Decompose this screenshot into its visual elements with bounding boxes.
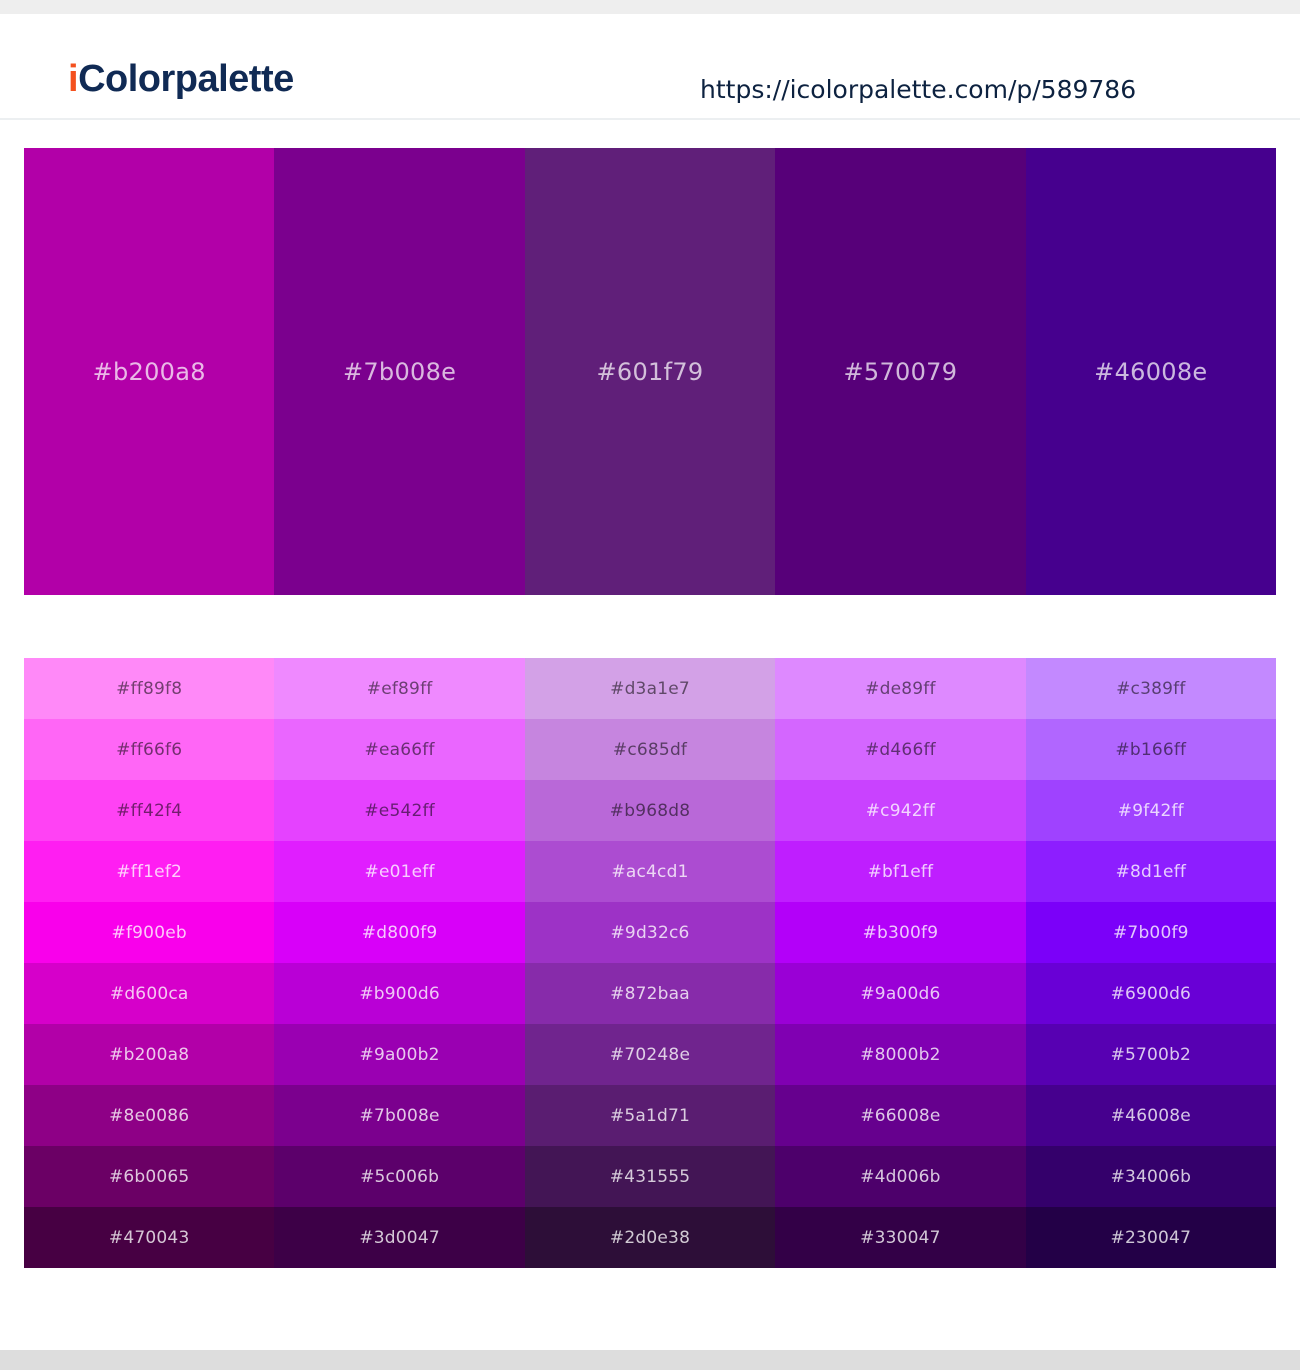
shade-cell[interactable]: #5c006b — [274, 1146, 524, 1207]
shade-row: #b200a8#9a00b2#70248e#8000b2#5700b2 — [24, 1024, 1276, 1085]
shade-row: #8e0086#7b008e#5a1d71#66008e#46008e — [24, 1085, 1276, 1146]
shade-cell[interactable]: #c685df — [525, 719, 775, 780]
shade-row: #ff1ef2#e01eff#ac4cd1#bf1eff#8d1eff — [24, 841, 1276, 902]
site-logo[interactable]: iColorpalette — [68, 60, 294, 98]
palette-swatch-hex: #570079 — [775, 358, 1025, 386]
shade-cell[interactable]: #ea66ff — [274, 719, 524, 780]
shade-cell[interactable]: #ff1ef2 — [24, 841, 274, 902]
shade-hex-label: #46008e — [1026, 1106, 1276, 1126]
shade-hex-label: #d600ca — [24, 984, 274, 1004]
shade-cell[interactable]: #ac4cd1 — [525, 841, 775, 902]
shade-hex-label: #e01eff — [274, 862, 524, 882]
shade-cell[interactable]: #5700b2 — [1026, 1024, 1276, 1085]
shade-hex-label: #9a00b2 — [274, 1045, 524, 1065]
shade-hex-label: #5c006b — [274, 1167, 524, 1187]
shade-cell[interactable]: #2d0e38 — [525, 1207, 775, 1268]
shade-cell[interactable]: #e01eff — [274, 841, 524, 902]
shade-cell[interactable]: #9f42ff — [1026, 780, 1276, 841]
shade-cell[interactable]: #9d32c6 — [525, 902, 775, 963]
shade-hex-label: #d3a1e7 — [525, 679, 775, 699]
shade-row: #470043#3d0047#2d0e38#330047#230047 — [24, 1207, 1276, 1268]
shade-cell[interactable]: #b900d6 — [274, 963, 524, 1024]
shade-cell[interactable]: #d466ff — [775, 719, 1025, 780]
shade-cell[interactable]: #d3a1e7 — [525, 658, 775, 719]
shade-hex-label: #34006b — [1026, 1167, 1276, 1187]
shade-row: #6b0065#5c006b#431555#4d006b#34006b — [24, 1146, 1276, 1207]
shade-hex-label: #8000b2 — [775, 1045, 1025, 1065]
main-palette-strip: #b200a8#7b008e#601f79#570079#46008e — [24, 148, 1276, 595]
shade-hex-label: #b968d8 — [525, 801, 775, 821]
shade-cell[interactable]: #6900d6 — [1026, 963, 1276, 1024]
shade-hex-label: #7b00f9 — [1026, 923, 1276, 943]
shade-cell[interactable]: #b200a8 — [24, 1024, 274, 1085]
shade-cell[interactable]: #9a00d6 — [775, 963, 1025, 1024]
logo-initial: i — [68, 58, 78, 100]
shade-cell[interactable]: #b968d8 — [525, 780, 775, 841]
shade-hex-label: #6900d6 — [1026, 984, 1276, 1004]
shade-hex-label: #330047 — [775, 1228, 1025, 1248]
shade-cell[interactable]: #7b00f9 — [1026, 902, 1276, 963]
shade-row: #ff66f6#ea66ff#c685df#d466ff#b166ff — [24, 719, 1276, 780]
shade-hex-label: #d466ff — [775, 740, 1025, 760]
shade-hex-label: #c389ff — [1026, 679, 1276, 699]
shade-hex-label: #7b008e — [274, 1106, 524, 1126]
palette-swatch-hex: #601f79 — [525, 358, 775, 386]
palette-swatch[interactable]: #570079 — [775, 148, 1025, 595]
palette-swatch-hex: #7b008e — [274, 358, 524, 386]
shade-hex-label: #9a00d6 — [775, 984, 1025, 1004]
shade-cell[interactable]: #4d006b — [775, 1146, 1025, 1207]
palette-swatch-hex: #b200a8 — [24, 358, 274, 386]
shade-cell[interactable]: #230047 — [1026, 1207, 1276, 1268]
shade-hex-label: #ac4cd1 — [525, 862, 775, 882]
shade-hex-label: #e542ff — [274, 801, 524, 821]
shade-row: #d600ca#b900d6#872baa#9a00d6#6900d6 — [24, 963, 1276, 1024]
shade-cell[interactable]: #9a00b2 — [274, 1024, 524, 1085]
shade-cell[interactable]: #de89ff — [775, 658, 1025, 719]
shade-cell[interactable]: #5a1d71 — [525, 1085, 775, 1146]
shade-cell[interactable]: #7b008e — [274, 1085, 524, 1146]
shade-cell[interactable]: #c389ff — [1026, 658, 1276, 719]
shade-hex-label: #b300f9 — [775, 923, 1025, 943]
shade-hex-label: #bf1eff — [775, 862, 1025, 882]
shade-cell[interactable]: #34006b — [1026, 1146, 1276, 1207]
shade-cell[interactable]: #70248e — [525, 1024, 775, 1085]
palette-swatch[interactable]: #46008e — [1026, 148, 1276, 595]
shade-cell[interactable]: #ff42f4 — [24, 780, 274, 841]
shade-hex-label: #b166ff — [1026, 740, 1276, 760]
shade-cell[interactable]: #872baa — [525, 963, 775, 1024]
top-gray-bar — [0, 0, 1300, 14]
shade-cell[interactable]: #6b0065 — [24, 1146, 274, 1207]
shade-hex-label: #9f42ff — [1026, 801, 1276, 821]
palette-swatch-hex: #46008e — [1026, 358, 1276, 386]
shade-cell[interactable]: #3d0047 — [274, 1207, 524, 1268]
shade-hex-label: #70248e — [525, 1045, 775, 1065]
shade-cell[interactable]: #8d1eff — [1026, 841, 1276, 902]
shade-hex-label: #ff89f8 — [24, 679, 274, 699]
shade-hex-label: #66008e — [775, 1106, 1025, 1126]
shade-cell[interactable]: #d800f9 — [274, 902, 524, 963]
shades-grid: #ff89f8#ef89ff#d3a1e7#de89ff#c389ff#ff66… — [24, 658, 1276, 1268]
shade-hex-label: #ff66f6 — [24, 740, 274, 760]
shade-cell[interactable]: #8e0086 — [24, 1085, 274, 1146]
logo-wordmark: Colorpalette — [78, 58, 294, 100]
shade-hex-label: #c942ff — [775, 801, 1025, 821]
shade-hex-label: #8e0086 — [24, 1106, 274, 1126]
shade-hex-label: #b200a8 — [24, 1045, 274, 1065]
shade-cell[interactable]: #f900eb — [24, 902, 274, 963]
shade-cell[interactable]: #470043 — [24, 1207, 274, 1268]
shade-row: #ff89f8#ef89ff#d3a1e7#de89ff#c389ff — [24, 658, 1276, 719]
shade-cell[interactable]: #e542ff — [274, 780, 524, 841]
shade-hex-label: #c685df — [525, 740, 775, 760]
shade-cell[interactable]: #46008e — [1026, 1085, 1276, 1146]
shade-hex-label: #8d1eff — [1026, 862, 1276, 882]
shade-cell[interactable]: #ef89ff — [274, 658, 524, 719]
page-url[interactable]: https://icolorpalette.com/p/589786 — [700, 77, 1136, 102]
shade-hex-label: #4d006b — [775, 1167, 1025, 1187]
shade-hex-label: #5a1d71 — [525, 1106, 775, 1126]
shade-hex-label: #230047 — [1026, 1228, 1276, 1248]
shade-hex-label: #de89ff — [775, 679, 1025, 699]
shade-hex-label: #2d0e38 — [525, 1228, 775, 1248]
shade-hex-label: #ef89ff — [274, 679, 524, 699]
shade-row: #ff42f4#e542ff#b968d8#c942ff#9f42ff — [24, 780, 1276, 841]
page-header: iColorpalette https://icolorpalette.com/… — [0, 14, 1300, 120]
palette-swatch[interactable]: #7b008e — [274, 148, 524, 595]
shade-hex-label: #ea66ff — [274, 740, 524, 760]
shade-cell[interactable]: #bf1eff — [775, 841, 1025, 902]
shade-hex-label: #3d0047 — [274, 1228, 524, 1248]
shade-cell[interactable]: #d600ca — [24, 963, 274, 1024]
bottom-gray-bar — [0, 1350, 1300, 1370]
shade-hex-label: #d800f9 — [274, 923, 524, 943]
shade-cell[interactable]: #c942ff — [775, 780, 1025, 841]
shade-hex-label: #872baa — [525, 984, 775, 1004]
shade-cell[interactable]: #b300f9 — [775, 902, 1025, 963]
shade-hex-label: #470043 — [24, 1228, 274, 1248]
shade-row: #f900eb#d800f9#9d32c6#b300f9#7b00f9 — [24, 902, 1276, 963]
shade-cell[interactable]: #431555 — [525, 1146, 775, 1207]
palette-swatch[interactable]: #601f79 — [525, 148, 775, 595]
shade-cell[interactable]: #66008e — [775, 1085, 1025, 1146]
shade-hex-label: #ff42f4 — [24, 801, 274, 821]
shade-hex-label: #431555 — [525, 1167, 775, 1187]
shade-hex-label: #b900d6 — [274, 984, 524, 1004]
shade-hex-label: #5700b2 — [1026, 1045, 1276, 1065]
shade-hex-label: #ff1ef2 — [24, 862, 274, 882]
shade-hex-label: #9d32c6 — [525, 923, 775, 943]
shade-cell[interactable]: #330047 — [775, 1207, 1025, 1268]
palette-swatch[interactable]: #b200a8 — [24, 148, 274, 595]
shade-cell[interactable]: #ff89f8 — [24, 658, 274, 719]
shade-hex-label: #f900eb — [24, 923, 274, 943]
shade-cell[interactable]: #b166ff — [1026, 719, 1276, 780]
shade-hex-label: #6b0065 — [24, 1167, 274, 1187]
shade-cell[interactable]: #8000b2 — [775, 1024, 1025, 1085]
shade-cell[interactable]: #ff66f6 — [24, 719, 274, 780]
